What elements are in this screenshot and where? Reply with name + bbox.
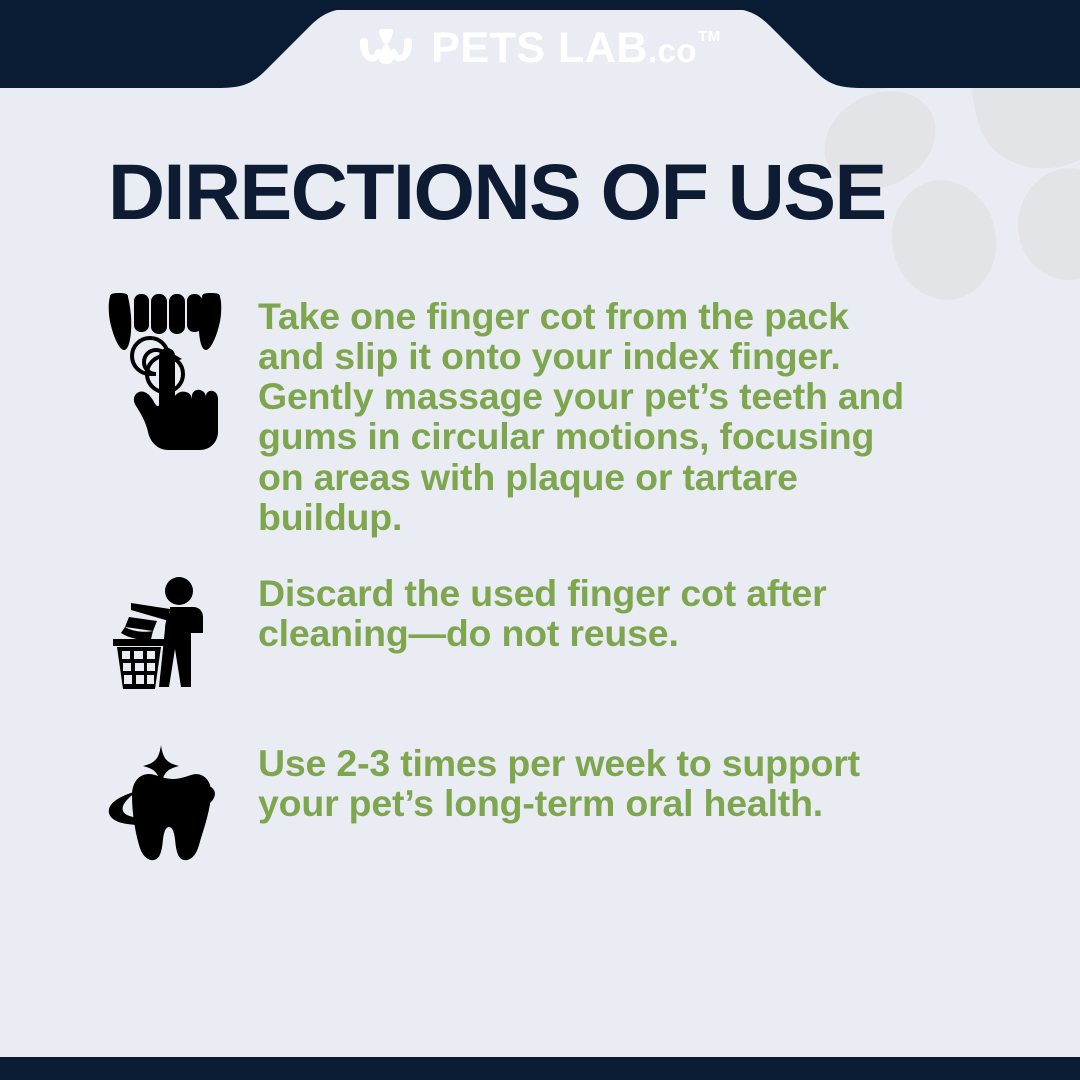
pet-face-logo-icon [359,28,413,68]
step-text: Discard the used finger cot after cleani… [258,569,918,653]
teeth-finger-massage-icon [100,292,230,452]
brand-co-text: .co [648,34,697,67]
directions-of-use-poster: PETS LAB .co TM DIRECTIONS OF USE [0,0,1080,1080]
header-shape [0,0,1080,96]
step-item: Use 2-3 times per week to support your p… [100,739,980,865]
steps-list: Take one finger cot from the pack and sl… [100,292,980,865]
step-item: Take one finger cot from the pack and sl… [100,292,980,537]
brand-wordmark: PETS LAB .co TM [431,27,721,70]
step-item: Discard the used finger cot after cleani… [100,569,980,689]
page-title: DIRECTIONS OF USE [108,152,886,231]
sparkling-tooth-orbit-icon [100,739,230,865]
discard-in-bin-icon [100,569,230,689]
footer-bar [0,1057,1080,1080]
brand-main-text: PETS LAB [431,27,648,70]
trademark-symbol: TM [698,29,721,44]
step-text: Take one finger cot from the pack and sl… [258,292,918,537]
brand-header: PETS LAB .co TM [0,0,1080,96]
step-text: Use 2-3 times per week to support your p… [258,739,918,823]
